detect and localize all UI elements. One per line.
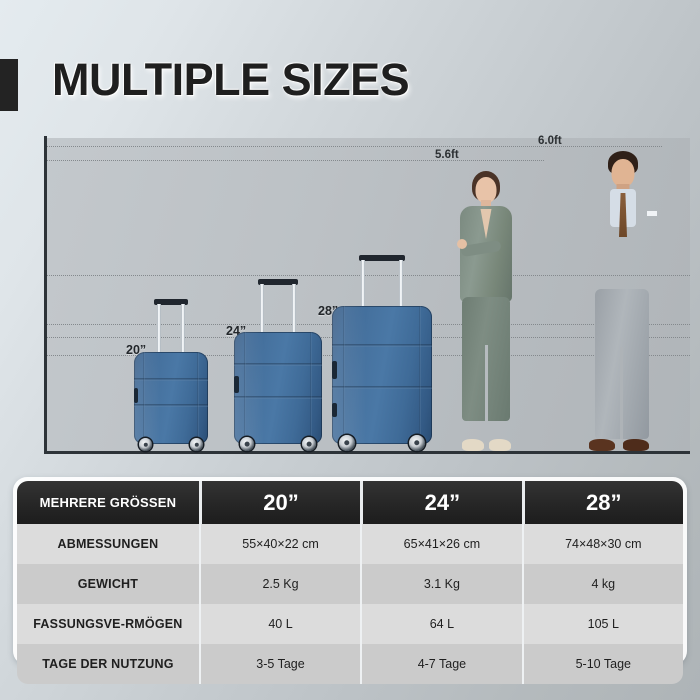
cell-days-28: 5-10 Tage: [522, 644, 683, 684]
chart-x-axis: [44, 451, 690, 454]
cell-capacity-24: 64 L: [360, 604, 521, 644]
table-row: TAGE DER NUTZUNG 3-5 Tage 4-7 Tage 5-10 …: [17, 644, 683, 684]
row-label-days: TAGE DER NUTZUNG: [17, 644, 199, 684]
cell-days-20: 3-5 Tage: [199, 644, 360, 684]
suitcase-20-wheel-left: [139, 438, 152, 451]
man-shoe-left: [589, 439, 615, 451]
specification-table: MEHRERE GRÖSSEN 20” 24” 28” ABMESSUNGEN …: [17, 481, 683, 684]
page-title: MULTIPLE SIZES: [52, 57, 409, 102]
suitcase-28-seam-1: [332, 344, 432, 347]
cell-weight-20: 2.5 Kg: [199, 564, 360, 604]
cell-dimensions-20: 55×40×22 cm: [199, 524, 360, 564]
woman-shoe-right: [489, 439, 511, 451]
suitcase-20-wheel-left-hub: [143, 442, 147, 446]
row-label-dimensions: ABMESSUNGEN: [17, 524, 199, 564]
suitcase-28-wheel-left: [339, 435, 355, 451]
suitcase-24-side-grip: [234, 376, 239, 393]
model-woman: [445, 169, 527, 451]
suitcase-28-wheel-left-hub: [344, 440, 349, 445]
suitcase-28-side-grip-top: [332, 361, 337, 379]
table-row: GEWICHT 2.5 Kg 3.1 Kg 4 kg: [17, 564, 683, 604]
suitcase-28-gloss: [332, 306, 366, 444]
man-head: [612, 159, 635, 187]
man-pocket-square: [647, 211, 657, 216]
suitcase-24-shell: [234, 332, 322, 444]
suitcase-28-shell: [332, 306, 432, 444]
suitcase-28-rib-right: [419, 306, 421, 444]
man-leg-gap: [620, 347, 623, 439]
specification-table-frame: MEHRERE GRÖSSEN 20” 24” 28” ABMESSUNGEN …: [13, 477, 687, 665]
suitcase-20-shell: [134, 352, 208, 444]
suitcase-24-rib-left: [244, 332, 246, 444]
suitcase-28-seam-2: [332, 386, 432, 389]
suitcase-20[interactable]: [134, 299, 208, 451]
suitcase-24-seam-2: [234, 396, 322, 399]
table-row: ABMESSUNGEN 55×40×22 cm 65×41×26 cm 74×4…: [17, 524, 683, 564]
suitcase-28-wheel-right-hub: [414, 440, 419, 445]
suitcase-20-rib-left: [143, 352, 145, 444]
row-label-capacity: FASSUNGSVE-RMÖGEN: [17, 604, 199, 644]
suitcase-20-wheel-right-hub: [194, 442, 198, 446]
table-header-size-24: 24”: [360, 481, 521, 524]
suitcase-28-rib-left: [343, 306, 345, 444]
title-accent-block: [0, 59, 18, 111]
cell-capacity-28: 105 L: [522, 604, 683, 644]
cell-weight-28: 4 kg: [522, 564, 683, 604]
woman-shoe-left: [462, 439, 484, 451]
suitcase-24-wheel-right: [302, 437, 316, 451]
cell-weight-24: 3.1 Kg: [360, 564, 521, 604]
suitcase-24-rib-right: [310, 332, 312, 444]
suitcase-28-side-grip-bottom: [332, 403, 337, 417]
man-shoe-right: [623, 439, 649, 451]
suitcase-24-seam-1: [234, 363, 322, 366]
suitcase-28[interactable]: [332, 255, 432, 451]
cell-days-24: 4-7 Tage: [360, 644, 521, 684]
suitcase-20-wheel-right: [190, 438, 203, 451]
suitcase-20-rib-right: [197, 352, 199, 444]
suitcase-24[interactable]: [234, 279, 322, 451]
cell-dimensions-24: 65×41×26 cm: [360, 524, 521, 564]
height-marker-6ft: 6.0ft: [538, 135, 562, 147]
cell-capacity-20: 40 L: [199, 604, 360, 644]
table-header-size-20: 20”: [199, 481, 360, 524]
gridline-2: [46, 160, 544, 161]
size-comparison-chart: 6.0ft 5.6ft 20” 24” 28”: [30, 130, 690, 460]
infographic-poster: MULTIPLE SIZES 6.0ft 5.6ft 20” 24” 28”: [0, 0, 700, 700]
model-man: [575, 151, 671, 451]
suitcase-24-wheel-right-hub: [307, 442, 312, 447]
woman-hand: [457, 239, 467, 249]
table-header-size-28: 28”: [522, 481, 683, 524]
table-row: FASSUNGSVE-RMÖGEN 40 L 64 L 105 L: [17, 604, 683, 644]
suitcase-20-side-grip: [134, 388, 138, 403]
height-marker-56ft: 5.6ft: [435, 149, 459, 161]
chart-y-axis: [44, 136, 47, 453]
cell-dimensions-28: 74×48×30 cm: [522, 524, 683, 564]
woman-leg-gap: [485, 345, 488, 421]
suitcase-24-wheel-left: [240, 437, 254, 451]
gridline-1: [46, 146, 662, 147]
suitcase-24-wheel-left-hub: [245, 442, 250, 447]
table-header-row: MEHRERE GRÖSSEN 20” 24” 28”: [17, 481, 683, 524]
suitcase-28-wheel-right: [409, 435, 425, 451]
table-header-row-label: MEHRERE GRÖSSEN: [17, 481, 199, 524]
row-label-weight: GEWICHT: [17, 564, 199, 604]
